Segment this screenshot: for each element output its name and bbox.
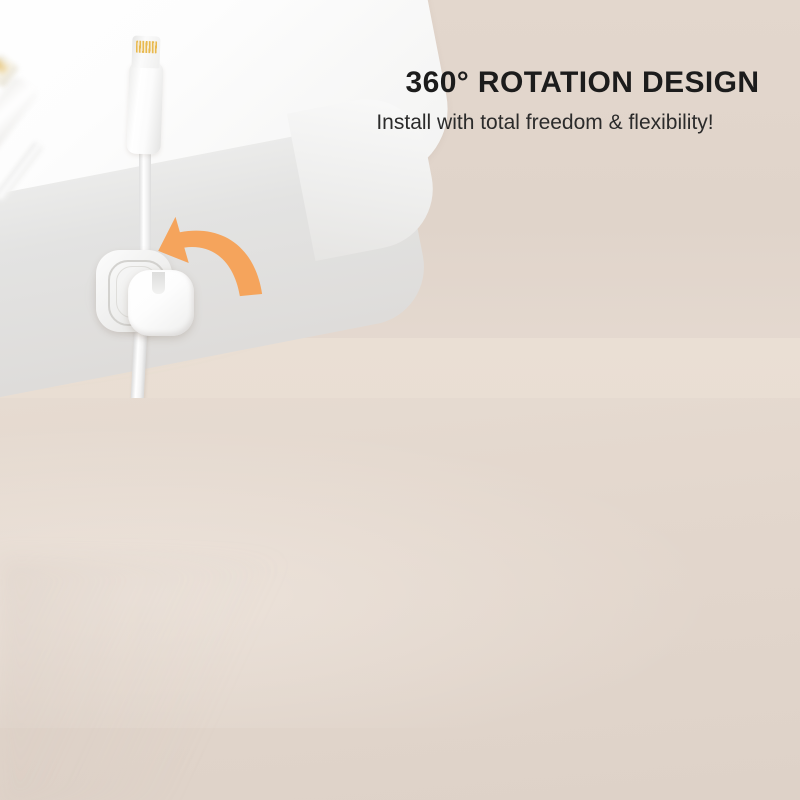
top-heading: 360° ROTATION DESIGN [380, 66, 785, 99]
product-feature-image: 360° ROTATION DESIGN Install with total … [0, 0, 800, 800]
top-subheading: Install with total freedom & flexibility… [300, 110, 790, 136]
rotation-arrow-icon [130, 206, 270, 336]
wall-shading [0, 558, 300, 800]
panel-pull-smoothly: PULL SMOOTHLY Rotate along with your mov… [0, 398, 800, 800]
lightning-connector-body [126, 61, 163, 154]
panel-rotation-design: 360° ROTATION DESIGN Install with total … [0, 0, 800, 400]
lightning-pins-icon [136, 41, 157, 54]
